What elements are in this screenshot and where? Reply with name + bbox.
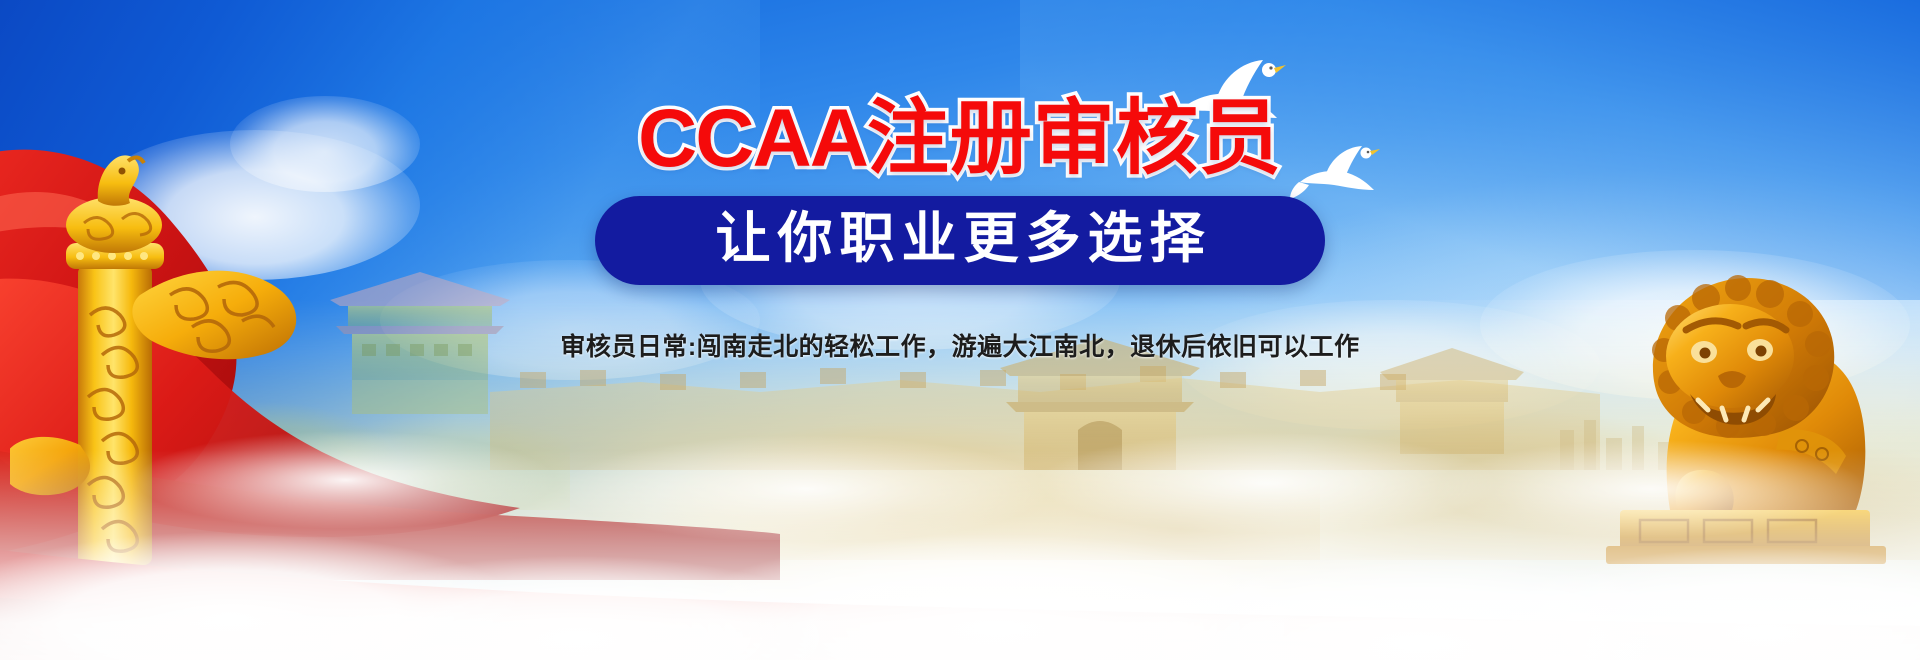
subtitle-pill[interactable]: 让你职业更多选择 [595, 196, 1325, 285]
subtitle-pill-row: 让你职业更多选择 [0, 196, 1920, 285]
banner-tagline: 审核员日常:闯南走北的轻松工作，游遍大江南北，退休后依旧可以工作 [0, 327, 1920, 363]
banner-content: CCAA注册审核员 让你职业更多选择 审核员日常:闯南走北的轻松工作，游遍大江南… [0, 0, 1920, 363]
subtitle-pill-label: 让你职业更多选择 [708, 208, 1211, 269]
lion-pedestal-base [1606, 546, 1886, 564]
banner-headline: CCAA注册审核员 [0, 98, 1920, 180]
promo-banner: CCAA注册审核员 让你职业更多选择 审核员日常:闯南走北的轻松工作，游遍大江南… [0, 0, 1920, 660]
headline-chinese: 注册审核员 [867, 93, 1282, 184]
headline-latin: CCAA [638, 93, 867, 184]
lion-pedestal [1620, 510, 1870, 550]
gate-tower-right [1380, 348, 1524, 454]
